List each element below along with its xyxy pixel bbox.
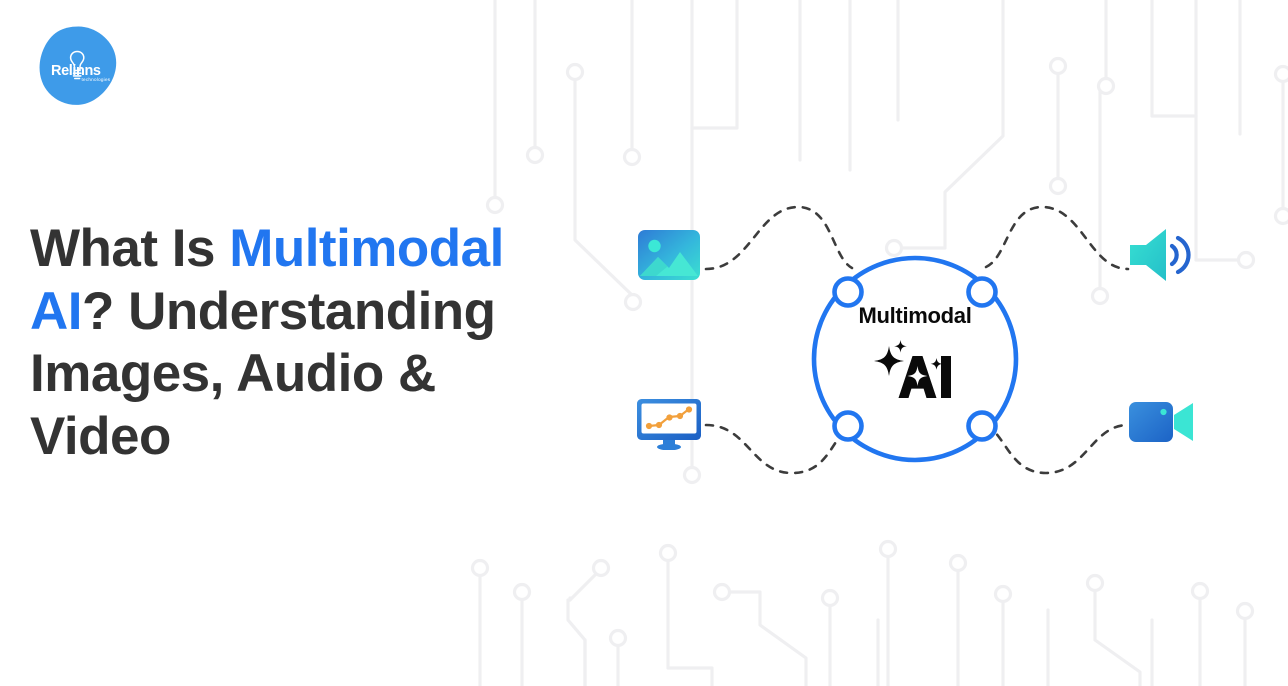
sparkle-tiny-top-icon [894, 340, 907, 353]
center-label: Multimodal [807, 303, 1023, 329]
headline-part-images-audio: Images, Audio & [30, 344, 436, 403]
logo-tagline: technologies [82, 77, 111, 82]
circle-node-top-right [969, 279, 996, 306]
speaker-icon[interactable] [1128, 227, 1196, 283]
monitor-chart-icon[interactable] [636, 398, 702, 450]
page-title: What Is Multimodal AI? Understanding Ima… [30, 218, 590, 468]
headline-part-what-is: What Is [30, 219, 229, 278]
headline-part-understanding: ? Understanding [82, 282, 496, 341]
headline-accent-ai: AI [30, 282, 82, 341]
sparkle-large-icon [874, 346, 904, 376]
letter-i-glyph [941, 356, 951, 398]
logo-wordmark: Relinns technologies [38, 25, 118, 107]
circle-node-bottom-left [835, 413, 862, 440]
sparkle-tiny-right-icon [931, 358, 943, 370]
ai-sparkle-logo [872, 340, 958, 402]
circle-node-bottom-right [969, 413, 996, 440]
banner-stage: Relinns technologies What Is Multimodal … [0, 0, 1288, 686]
video-camera-icon[interactable] [1128, 397, 1194, 447]
multimodal-diagram: Multimodal [600, 185, 1240, 495]
headline-accent-multimodal: Multimodal [229, 219, 504, 278]
headline-part-video: Video [30, 407, 171, 466]
circle-node-top-left [835, 279, 862, 306]
image-icon[interactable] [638, 230, 700, 280]
brand-logo[interactable]: Relinns technologies [38, 25, 118, 107]
